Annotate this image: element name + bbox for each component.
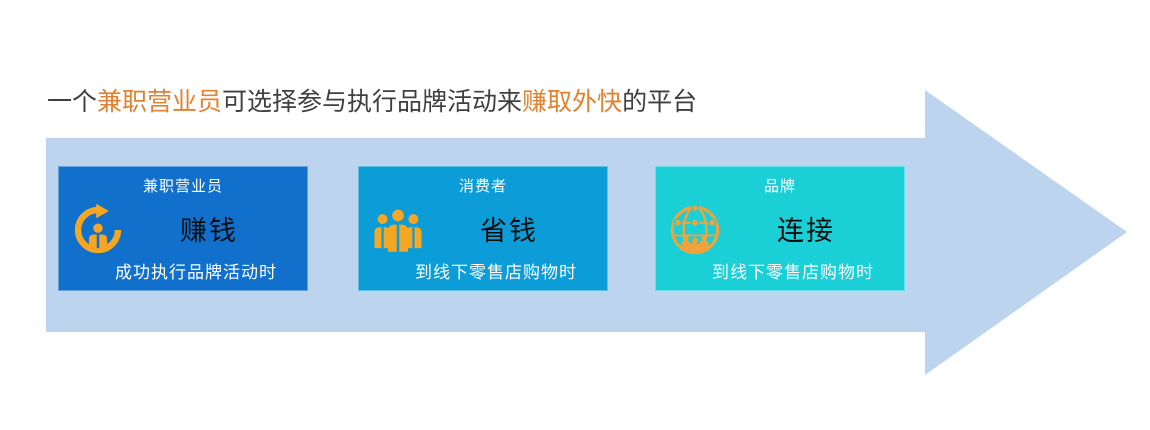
headline-segment-3-highlight: 赚取外快 xyxy=(522,89,622,116)
card-header-label: 品牌 xyxy=(656,175,904,196)
card-main-label: 赚钱 xyxy=(129,209,289,248)
card-brand[interactable]: 品牌 连接 到线下零售店购物时 xyxy=(655,166,905,291)
headline-segment-0: 一个 xyxy=(47,89,97,116)
headline-segment-2: 可选择参与执行品牌活动来 xyxy=(222,89,522,116)
card-main-label: 连接 xyxy=(726,209,886,248)
card-footer-label: 到线下零售店购物时 xyxy=(359,258,607,283)
card-header-label: 消费者 xyxy=(359,175,607,196)
globe-network-people-icon xyxy=(666,201,724,259)
headline-segment-4: 的平台 xyxy=(622,89,697,116)
headline-segment-1-highlight: 兼职营业员 xyxy=(97,89,222,116)
card-footer-label: 到线下零售店购物时 xyxy=(656,258,904,283)
diagram-canvas: 一个兼职营业员可选择参与执行品牌活动来赚取外快的平台 兼职营业员 赚钱 成功执行… xyxy=(0,0,1150,430)
card-footer-label: 成功执行品牌活动时 xyxy=(59,258,307,283)
person-circular-arrow-icon xyxy=(69,201,127,259)
card-part-time-clerk[interactable]: 兼职营业员 赚钱 成功执行品牌活动时 xyxy=(58,166,308,291)
card-header-label: 兼职营业员 xyxy=(59,175,307,196)
group-of-people-icon xyxy=(369,201,427,259)
card-consumer[interactable]: 消费者 省钱 到线下零售店购物时 xyxy=(358,166,608,291)
page-title: 一个兼职营业员可选择参与执行品牌活动来赚取外快的平台 xyxy=(47,86,697,120)
card-main-label: 省钱 xyxy=(429,209,589,248)
